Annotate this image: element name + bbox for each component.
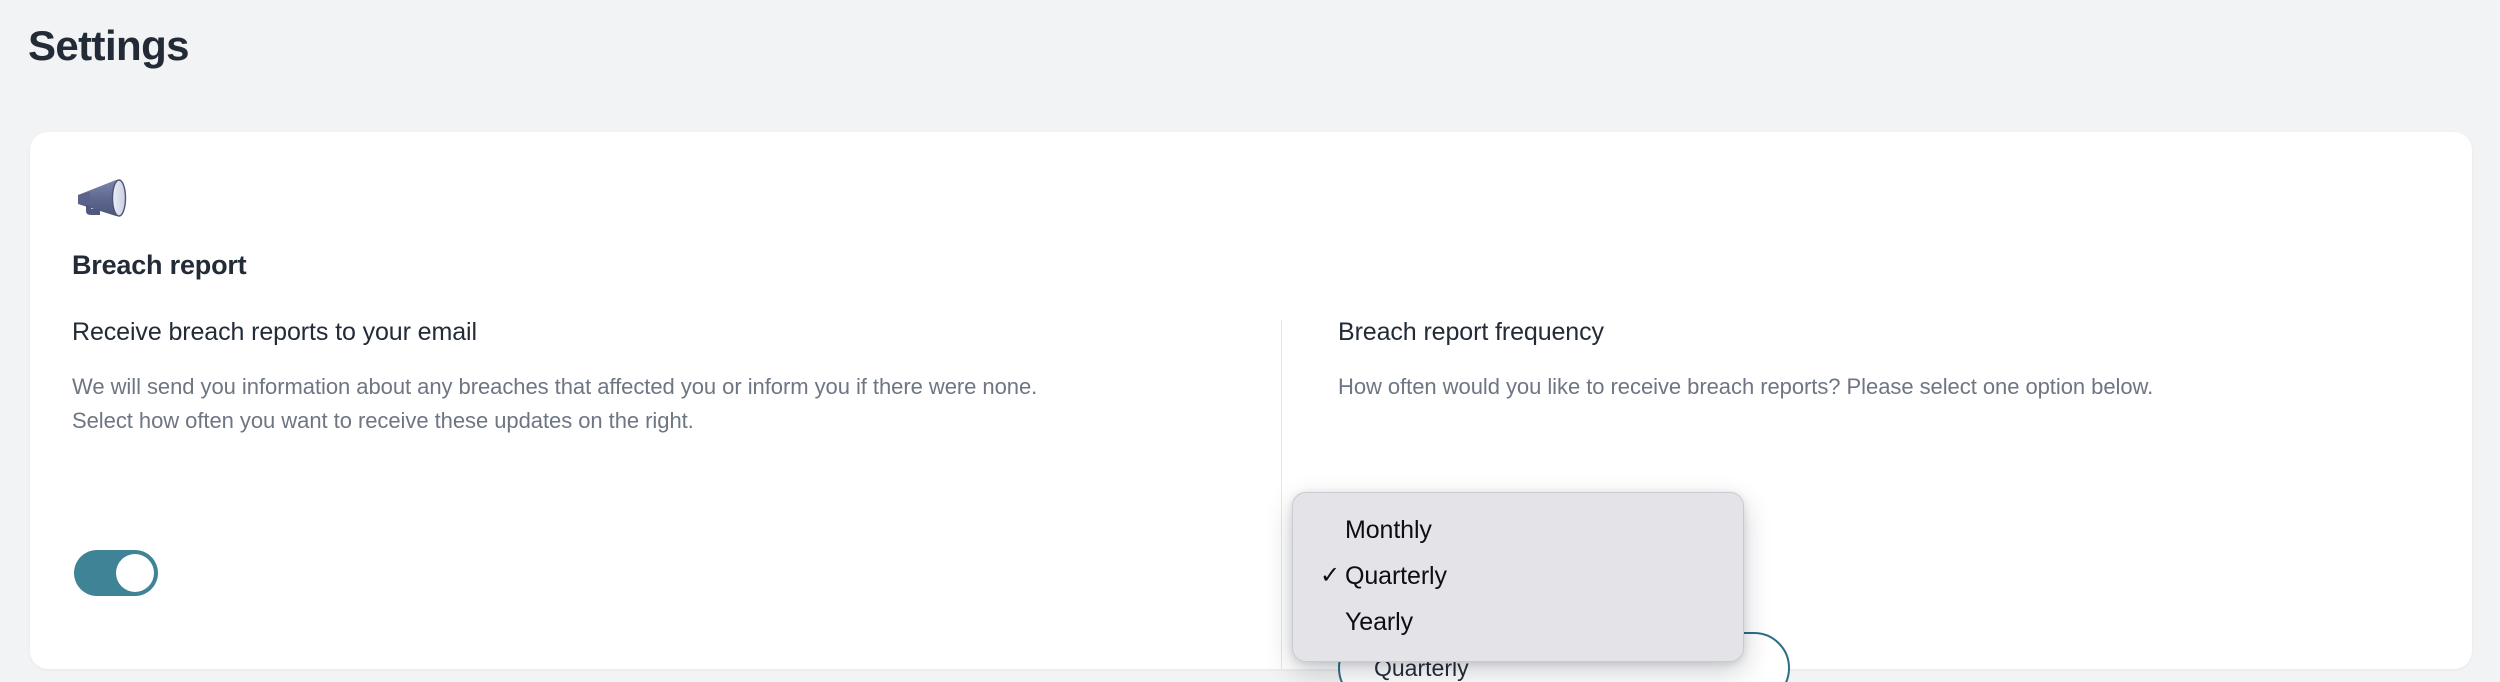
dropdown-option-monthly-label: Monthly: [1345, 516, 1432, 545]
right-column: Breach report frequency How often would …: [1338, 317, 2398, 404]
right-column-title: Breach report frequency: [1338, 317, 2398, 348]
settings-page: Settings: [0, 0, 2500, 682]
card-heading: Breach report: [72, 250, 246, 281]
dropdown-option-yearly-label: Yearly: [1345, 608, 1413, 637]
right-column-description-line-1: How often would you like to receive brea…: [1338, 370, 2398, 404]
breach-report-card: Breach report Receive breach reports to …: [30, 132, 2472, 669]
dropdown-option-quarterly-label: Quarterly: [1345, 562, 1447, 591]
toggle-knob: [116, 554, 154, 592]
left-column-description: We will send you information about any b…: [72, 370, 1252, 438]
dropdown-check-icon-quarterly: ✓: [1319, 564, 1341, 588]
left-column-description-line-2: Select how often you want to receive the…: [72, 404, 1252, 438]
left-column-description-line-1: We will send you information about any b…: [72, 370, 1252, 404]
page-title: Settings: [28, 22, 189, 70]
column-divider: [1281, 320, 1282, 669]
dropdown-option-monthly[interactable]: Monthly: [1293, 507, 1743, 553]
frequency-dropdown-popup[interactable]: Monthly ✓ Quarterly Yearly: [1292, 492, 1744, 662]
right-column-description: How often would you like to receive brea…: [1338, 370, 2398, 404]
left-column: Receive breach reports to your email We …: [72, 317, 1252, 438]
megaphone-icon: [72, 175, 134, 223]
dropdown-option-yearly[interactable]: Yearly: [1293, 599, 1743, 645]
left-column-title: Receive breach reports to your email: [72, 317, 1252, 348]
breach-report-toggle[interactable]: [74, 550, 158, 596]
dropdown-option-quarterly[interactable]: ✓ Quarterly: [1293, 553, 1743, 599]
